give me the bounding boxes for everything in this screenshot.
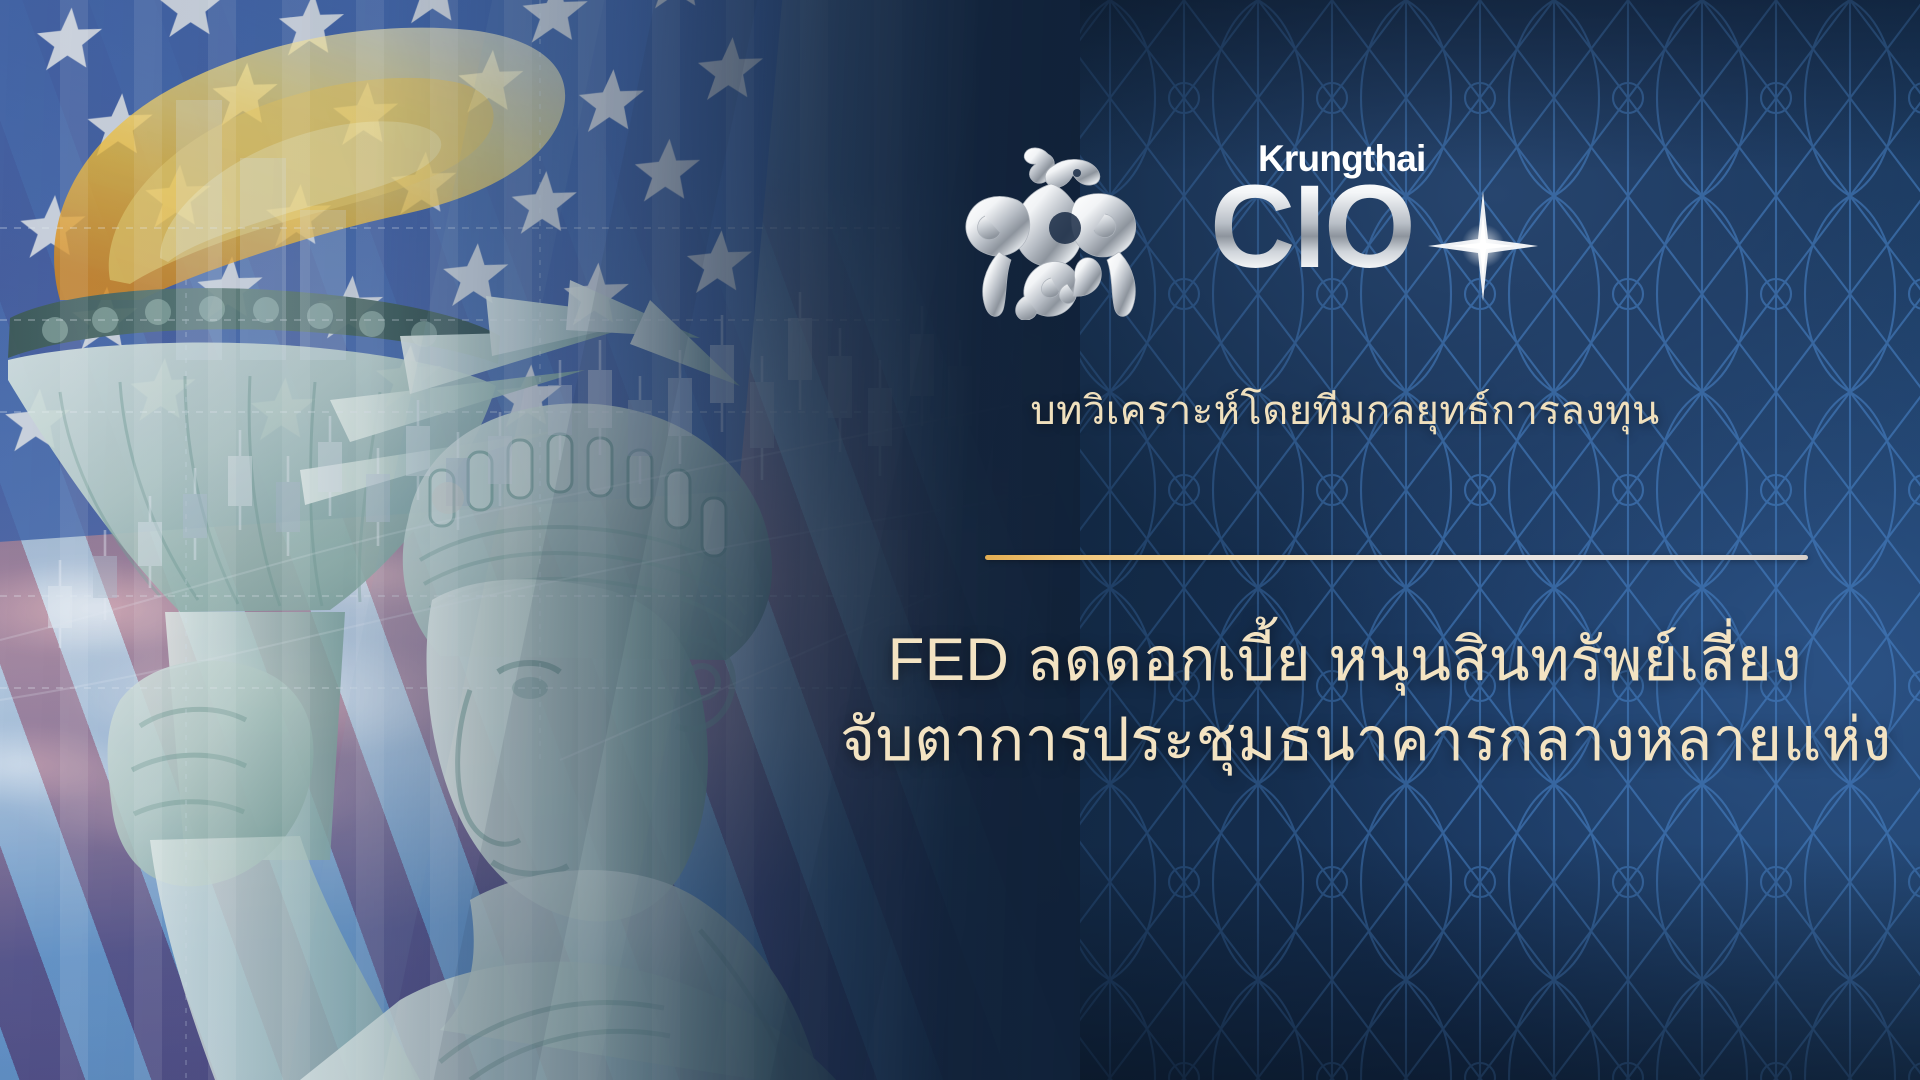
article-subtitle: บทวิเคราะห์โดยทีมกลยุทธ์การลงทุน: [840, 378, 1850, 442]
article-headline: FED ลดดอกเบี้ย หนุนสินทรัพย์เสี่ยง จับตา…: [840, 620, 1850, 780]
headline-line-1: FED ลดดอกเบี้ย หนุนสินทรัพย์เสี่ยง: [840, 620, 1850, 700]
headline-line-2: จับตาการประชุมธนาคารกลางหลายแห่ง: [840, 700, 1850, 780]
brand-text-block: Krungthai CIO: [1210, 140, 1520, 282]
krungthai-cio-logo: Krungthai CIO: [955, 140, 1515, 310]
gold-divider: [985, 555, 1808, 560]
krungthai-cio-article-banner: Krungthai CIO: [0, 0, 1920, 1080]
banner-content: Krungthai CIO: [840, 0, 1920, 1080]
krungthai-garuda-nok-wayupak-icon: [955, 140, 1170, 320]
brand-product-name: CIO: [1210, 173, 1520, 282]
